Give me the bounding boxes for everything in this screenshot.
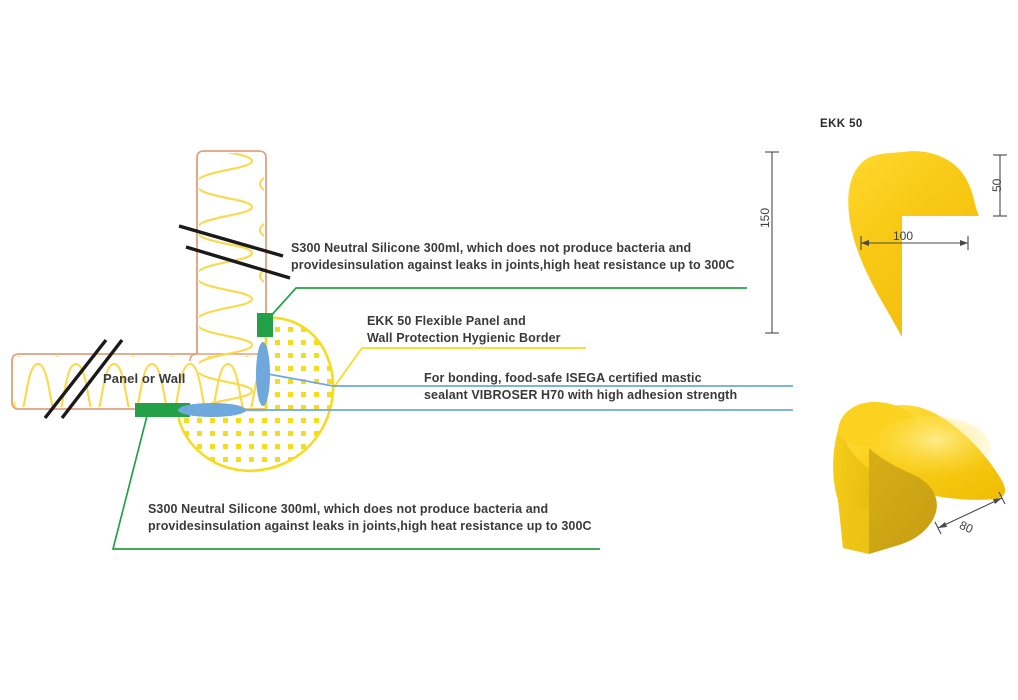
callout-silicone-top-line-2: providesinsulation against leaks in join… xyxy=(291,257,735,274)
diagram-canvas: Panel or Wall S300 Neutral Silicone 300m… xyxy=(0,0,1018,700)
insulation-hatch-vertical-lower xyxy=(199,353,264,407)
callout-mastic-sealant: For bonding, food-safe ISEGA certified m… xyxy=(424,370,737,404)
callout-ekk50: EKK 50 Flexible Panel and Wall Protectio… xyxy=(367,313,561,347)
callout-mastic-line-1: For bonding, food-safe ISEGA certified m… xyxy=(424,370,737,387)
product-profile-title: EKK 50 xyxy=(820,118,863,130)
dimension-label-50: 50 xyxy=(990,179,1004,192)
dim-arrow-100-right xyxy=(960,240,968,246)
callout-silicone-bottom: S300 Neutral Silicone 300ml, which does … xyxy=(148,501,592,535)
dimension-label-100: 100 xyxy=(893,229,913,243)
callout-silicone-top-line-1: S300 Neutral Silicone 300ml, which does … xyxy=(291,240,735,257)
callout-ekk50-line-1: EKK 50 Flexible Panel and xyxy=(367,313,561,330)
mastic-sealant-vertical xyxy=(256,342,270,406)
dim-arrow-80-left xyxy=(938,522,947,528)
product-3d-render xyxy=(833,402,1005,554)
mastic-sealant-horizontal xyxy=(178,403,246,417)
callout-mastic-line-2: sealant VIBROSER H70 with high adhesion … xyxy=(424,387,737,404)
panel-or-wall-label: Panel or Wall xyxy=(103,371,185,386)
callout-silicone-bottom-line-2: providesinsulation against leaks in join… xyxy=(148,518,592,535)
callout-silicone-top: S300 Neutral Silicone 300ml, which does … xyxy=(291,240,735,274)
callout-ekk50-line-2: Wall Protection Hygienic Border xyxy=(367,330,561,347)
callout-silicone-bottom-line-1: S300 Neutral Silicone 300ml, which does … xyxy=(148,501,592,518)
technical-diagram-svg xyxy=(0,0,1018,700)
dimension-label-150: 150 xyxy=(758,208,772,228)
dim-arrow-80-right xyxy=(993,498,1002,504)
